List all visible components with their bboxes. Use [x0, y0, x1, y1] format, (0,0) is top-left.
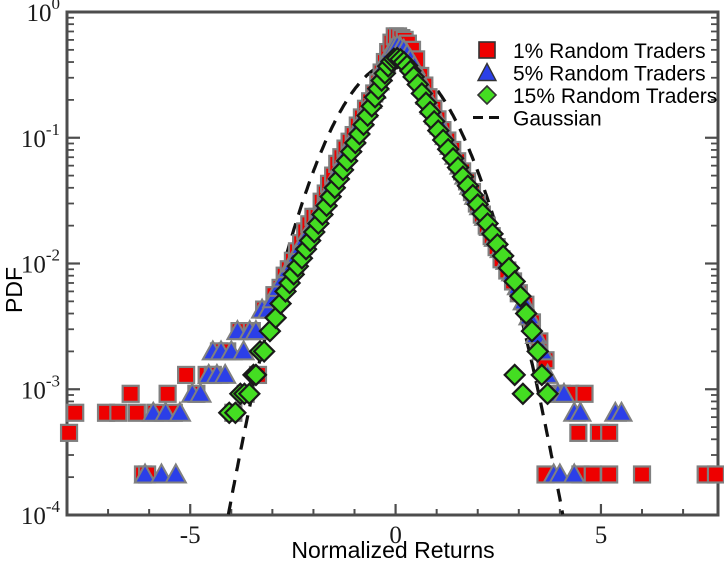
data-point [601, 466, 617, 482]
data-point [577, 386, 593, 402]
data-point [61, 425, 77, 441]
data-point [110, 405, 126, 421]
legend-item: 1% Random Traders [479, 40, 706, 63]
legend-item: 15% Random Traders [478, 85, 717, 108]
legend-label: 1% Random Traders [513, 40, 706, 63]
data-point [634, 466, 650, 482]
data-point [585, 466, 601, 482]
data-point [129, 405, 145, 421]
legend-label: 5% Random Traders [513, 63, 706, 86]
data-point [570, 425, 586, 441]
data-point [601, 425, 617, 441]
data-point [708, 466, 724, 482]
data-point [178, 367, 194, 383]
legend-label: Gaussian [513, 108, 602, 131]
legend-label: 15% Random Traders [513, 85, 717, 108]
x-axis-label: Normalized Returns [291, 537, 494, 563]
data-point [160, 386, 176, 402]
data-point [123, 386, 139, 402]
y-axis-label: PDF [1, 267, 27, 313]
x-tick-label: -5 [180, 522, 201, 549]
legend-item: 5% Random Traders [478, 63, 706, 86]
x-tick-label: 5 [595, 522, 608, 549]
data-point [67, 405, 83, 421]
chart-svg: 10010-110-210-310-4 -505 1% Random Trade… [0, 0, 724, 565]
figure-container: 10010-110-210-310-4 -505 1% Random Trade… [0, 0, 724, 565]
